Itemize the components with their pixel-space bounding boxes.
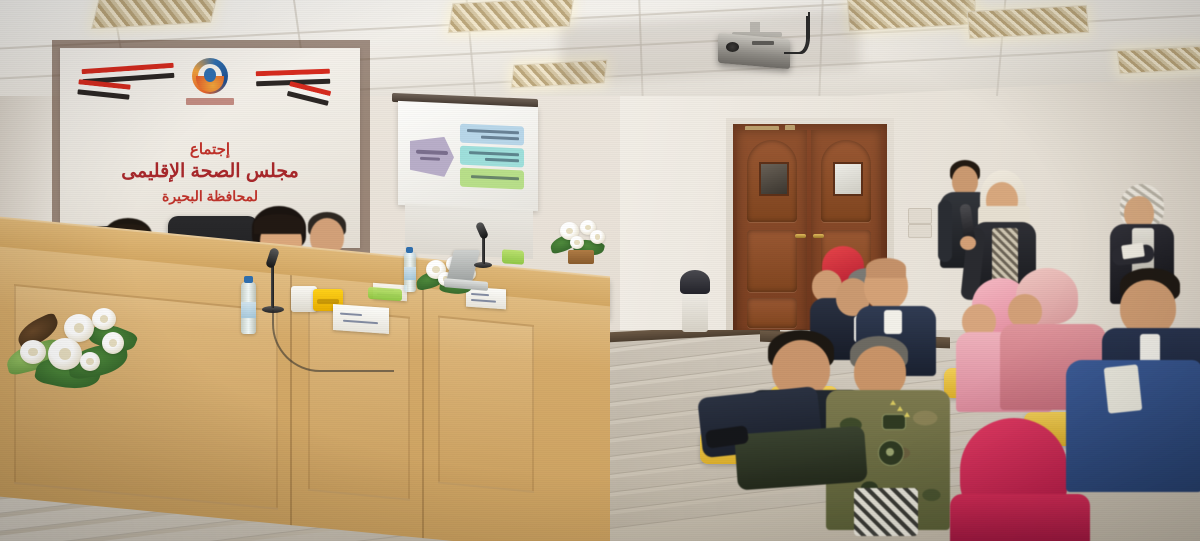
door-handle-right[interactable] xyxy=(813,234,824,238)
banner-line-1: إجتماع xyxy=(60,140,360,158)
microphone-1 xyxy=(258,246,288,316)
door-handle-left[interactable] xyxy=(795,234,806,238)
flower-arrangement-3 xyxy=(548,218,614,266)
rank-star xyxy=(890,400,896,405)
microphone-capsule xyxy=(265,247,280,269)
rank-star xyxy=(897,406,903,411)
shoulder-patch xyxy=(882,414,906,430)
water-bottle-2 xyxy=(404,252,416,292)
slide-hexagon xyxy=(410,135,454,177)
green-item-2 xyxy=(502,249,524,265)
presentation-slide xyxy=(408,115,528,196)
door-window-left xyxy=(759,162,789,196)
slide-row-cyan xyxy=(460,146,524,168)
slide-row-blue xyxy=(460,124,524,146)
microphone-2 xyxy=(472,222,496,270)
waste-bin xyxy=(678,268,712,330)
door-leaf-left[interactable] xyxy=(737,130,807,334)
egypt-flag-right-tail xyxy=(287,81,331,106)
ceiling-projector xyxy=(712,22,808,78)
attendee-suit-5 xyxy=(1066,350,1200,500)
green-item-1 xyxy=(368,287,402,301)
banner-line-2: مجلس الصحة الإقليمى xyxy=(60,160,360,183)
egypt-flag-left-tail xyxy=(77,79,130,99)
wall-socket xyxy=(908,208,932,224)
wall-socket xyxy=(908,224,932,238)
rank-star xyxy=(904,412,910,417)
attendee-legs xyxy=(734,426,868,491)
patterned-scarf xyxy=(854,488,918,536)
waste-bin-lid xyxy=(680,270,710,294)
slide-row-green xyxy=(460,168,524,190)
governorate-logo xyxy=(184,56,236,118)
banner-line-3: لمحافظة البحيرة xyxy=(60,188,360,205)
door-window-right xyxy=(833,162,863,196)
logo-caption xyxy=(186,98,234,105)
meeting-photograph: إجتماع مجلس الصحة الإقليمى لمحافظة البحي… xyxy=(0,0,1200,541)
laptop-keyboard[interactable] xyxy=(444,278,488,291)
flower-arrangement-1 xyxy=(6,296,186,406)
projector-lens xyxy=(726,42,739,52)
water-bottle-1 xyxy=(241,282,256,334)
projection-screen xyxy=(398,101,538,211)
ceiling-light-panel xyxy=(1117,46,1200,75)
projector-cable xyxy=(788,12,810,54)
